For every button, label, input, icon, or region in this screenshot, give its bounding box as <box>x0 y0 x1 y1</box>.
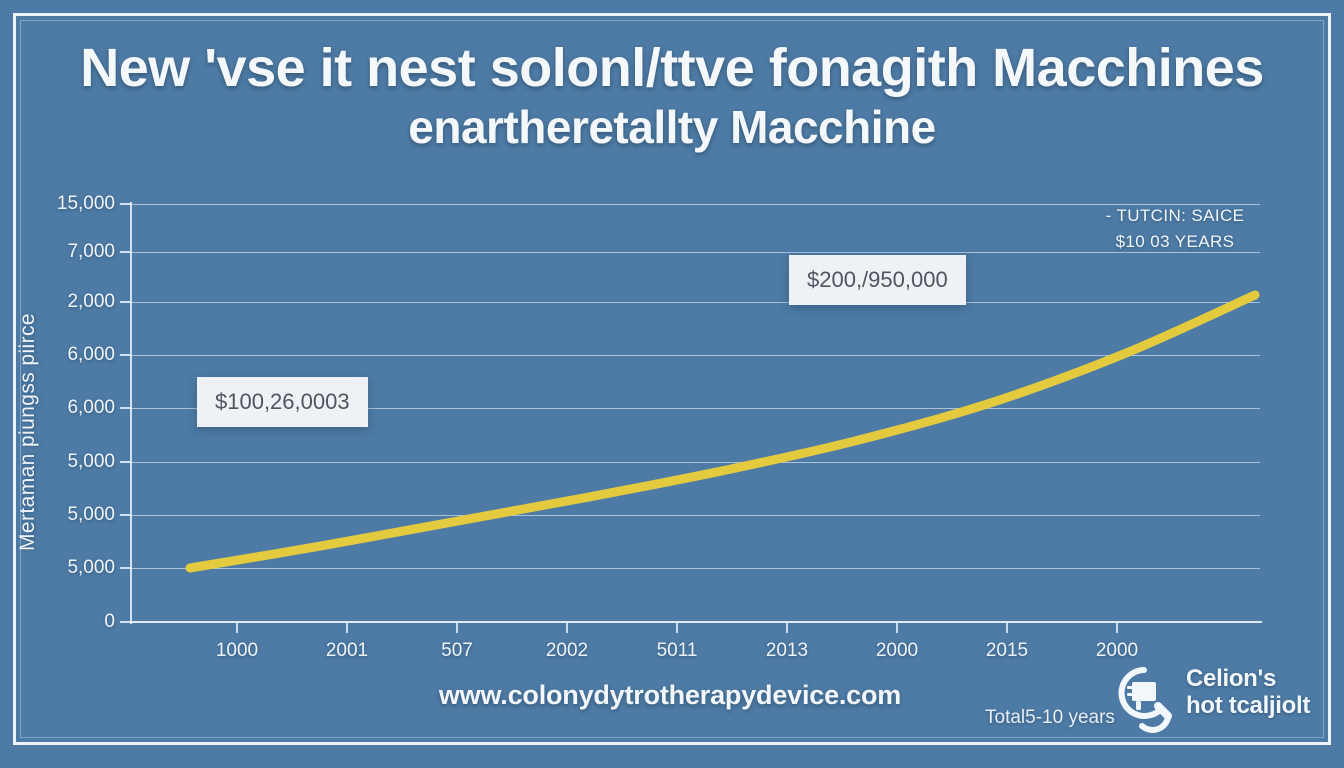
legend-note: - TUTCIN: SAICE $10 03 YEARS <box>1060 203 1290 254</box>
y-tick-label: 5,000 <box>5 557 115 579</box>
y-tick-mark <box>120 301 131 303</box>
y-tick-label-group: 15,000 7,000 2,000 6,000 6,000 5,000 5,0… <box>0 0 115 768</box>
y-tick-label: 6,000 <box>5 397 115 419</box>
brand-name-line-1: Celion's <box>1186 666 1310 693</box>
x-tick-mark <box>346 623 348 633</box>
brand-name: Celion's hot tcaljiolt <box>1186 666 1310 720</box>
y-tick-mark <box>120 354 131 356</box>
y-tick-mark <box>120 621 131 623</box>
legend-note-line-2: $10 03 YEARS <box>1060 229 1290 255</box>
footer-duration-label: Total5-10 years <box>985 707 1115 729</box>
x-tick-label: 2000 <box>1057 640 1177 662</box>
x-tick-mark <box>566 623 568 633</box>
x-tick-mark <box>1006 623 1008 633</box>
gridline <box>130 568 1260 569</box>
x-tick-label: 5011 <box>617 640 737 662</box>
x-tick-label: 2001 <box>287 640 407 662</box>
brand-name-line-2: hot tcaljiolt <box>1186 693 1310 720</box>
x-axis-line <box>130 621 1262 623</box>
y-tick-label: 7,000 <box>5 241 115 263</box>
y-tick-mark <box>120 407 131 409</box>
y-tick-label: 5,000 <box>5 504 115 526</box>
x-tick-mark <box>236 623 238 633</box>
x-tick-label: 1000 <box>177 640 297 662</box>
legend-note-line-1: - TUTCIN: SAICE <box>1060 203 1290 229</box>
y-tick-label: 6,000 <box>5 344 115 366</box>
gridline <box>130 355 1260 356</box>
gridline <box>130 302 1260 303</box>
x-tick-mark <box>786 623 788 633</box>
x-tick-label: 2000 <box>837 640 957 662</box>
y-tick-label: 15,000 <box>5 193 115 215</box>
x-tick-label: 2015 <box>947 640 1067 662</box>
x-tick-mark <box>896 623 898 633</box>
infographic-canvas: New 'vse it nest solonl/ttve fonagith Ma… <box>0 0 1344 768</box>
y-tick-label: 2,000 <box>5 291 115 313</box>
gridline <box>130 515 1260 516</box>
annotation-callout-1: $100,26,0003 <box>197 377 368 427</box>
x-tick-label: 2013 <box>727 640 847 662</box>
y-tick-label: 0 <box>5 611 115 633</box>
y-axis-line <box>130 202 132 624</box>
y-tick-mark <box>120 251 131 253</box>
brand-lockup: Celion's hot tcaljiolt <box>1110 662 1330 742</box>
y-tick-mark <box>120 461 131 463</box>
annotation-callout-2: $200,/950,000 <box>789 255 966 305</box>
y-tick-label: 5,000 <box>5 451 115 473</box>
y-tick-mark <box>120 203 131 205</box>
magnifier-document-icon <box>1110 664 1186 736</box>
x-tick-label: 2002 <box>507 640 627 662</box>
gridline <box>130 462 1260 463</box>
x-tick-mark <box>676 623 678 633</box>
x-tick-mark <box>1116 623 1118 633</box>
x-tick-mark <box>456 623 458 633</box>
y-tick-mark <box>120 514 131 516</box>
y-tick-mark <box>120 567 131 569</box>
footer-website-url[interactable]: www.colonydytrotherapydevice.com <box>360 680 980 711</box>
x-tick-label: 507 <box>397 640 517 662</box>
